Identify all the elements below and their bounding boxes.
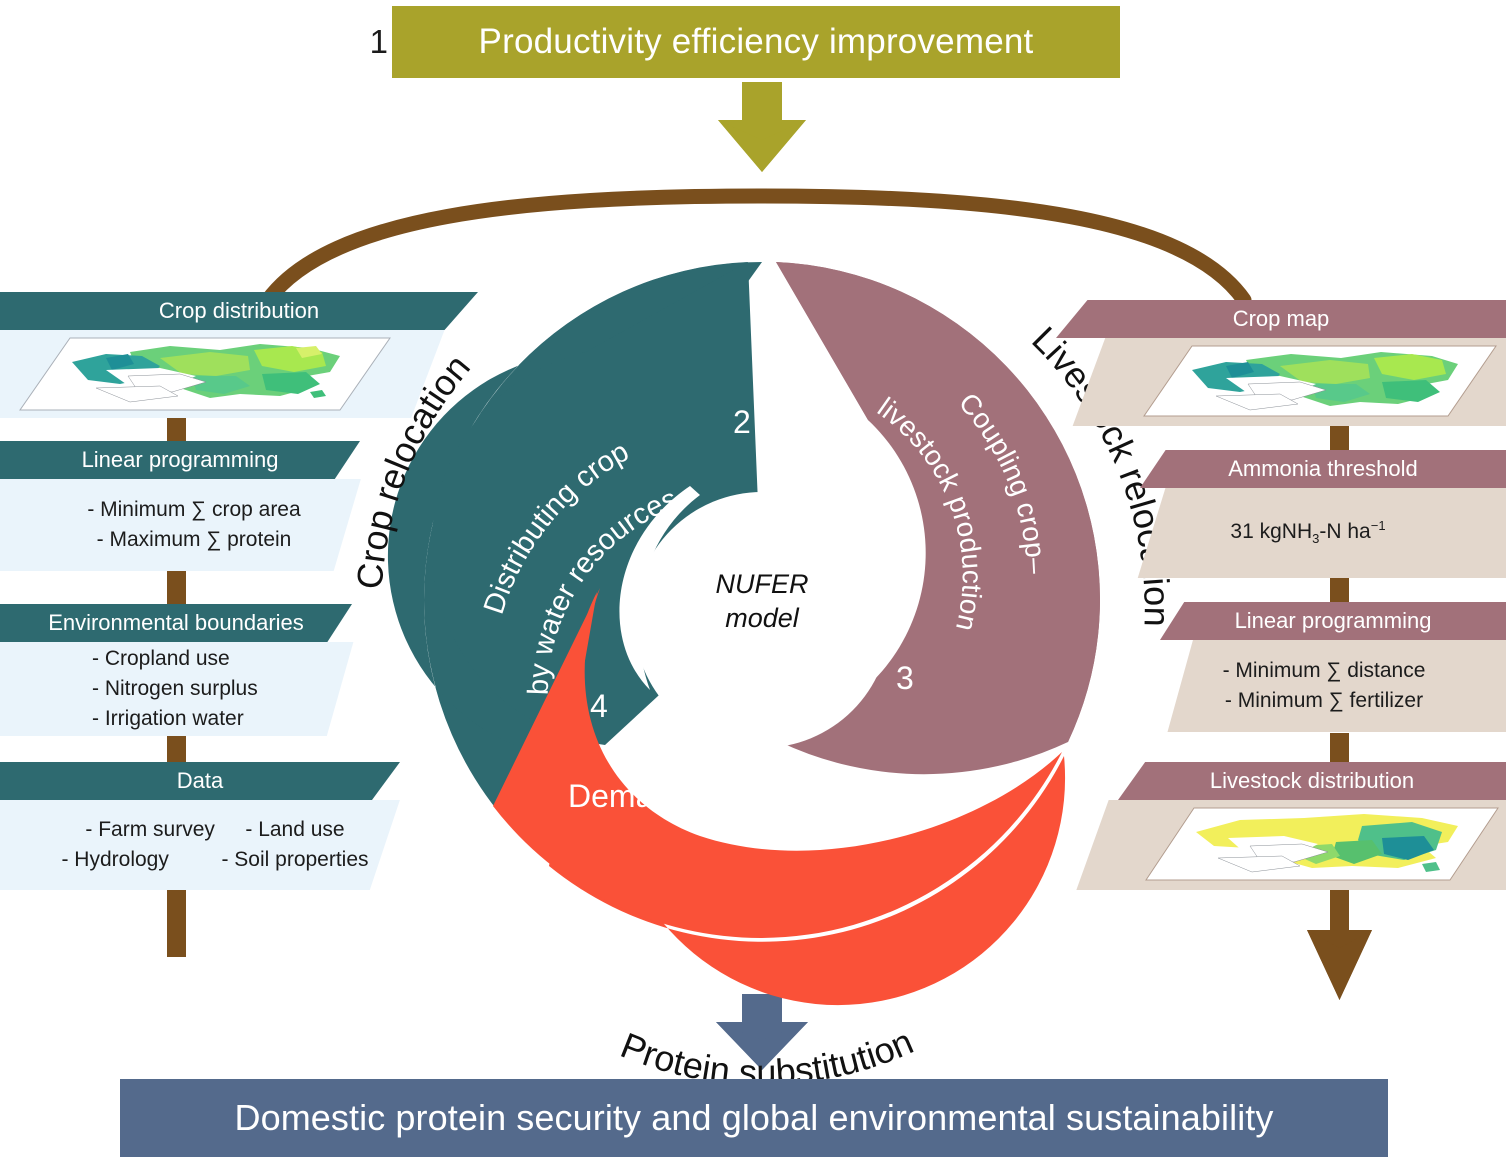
left-panel-3-bullet-1: - Cropland use xyxy=(92,644,230,674)
right-panel-1-header: Crop map xyxy=(1056,300,1506,338)
left-panel-4-title: Data xyxy=(177,768,223,794)
right-panel-3-header: Linear programming xyxy=(1160,602,1506,640)
left-panel-2-body: - Minimum ∑ crop area - Maximum ∑ protei… xyxy=(0,479,388,571)
center-model-name: NUFER model xyxy=(662,567,862,635)
left-panel-4-header: Data xyxy=(0,762,400,800)
left-panel-4-body: - Farm survey - Land use - Hydrology - S… xyxy=(0,800,430,890)
left-panel-2-bullet-2: - Maximum ∑ protein xyxy=(97,525,292,555)
china-crop-distribution-map xyxy=(10,332,400,416)
left-panel-1-title: Crop distribution xyxy=(159,298,319,324)
left-panel-3-bullet-3: - Irrigation water xyxy=(92,704,244,734)
left-panel-4-c2-r2: - Soil properties xyxy=(221,845,368,875)
left-panel-3-body: - Cropland use - Nitrogen surplus - Irri… xyxy=(0,642,380,736)
right-panel-4-body xyxy=(1044,800,1506,890)
ammonia-value-prefix: 31 kgNH xyxy=(1230,520,1312,543)
left-panel-3-bullet-2: - Nitrogen surplus xyxy=(92,674,258,704)
left-panel-4-c1-r2: - Hydrology xyxy=(61,845,211,875)
left-panel-1-body xyxy=(0,330,478,418)
left-panel-4-row-1: - Farm survey - Land use xyxy=(85,815,344,845)
left-panel-4-c1-r1: - Farm survey xyxy=(85,815,235,845)
bottom-banner-label: Domestic protein security and global env… xyxy=(234,1097,1273,1139)
left-panel-4-row-2: - Hydrology - Soil properties xyxy=(61,845,368,875)
right-panel-2-header: Ammonia threshold xyxy=(1140,450,1506,488)
left-panel-3-title: Environmental boundaries xyxy=(48,610,304,636)
china-livestock-distribution-map xyxy=(1136,802,1506,886)
right-panel-1-body xyxy=(1040,338,1506,426)
china-crop-map xyxy=(1136,340,1506,422)
center-model-line2: model xyxy=(662,601,862,635)
ammonia-value-sup: −1 xyxy=(1371,518,1386,533)
right-panel-2-title: Ammonia threshold xyxy=(1228,456,1418,482)
right-panel-2-value: 31 kgNH3-N ha−1 xyxy=(1230,511,1385,554)
left-panel-2-header: Linear programming xyxy=(0,441,360,479)
left-panel-4-c2-r1: - Land use xyxy=(245,815,344,845)
segment-2-number: 2 xyxy=(733,404,751,441)
left-panel-3-header: Environmental boundaries xyxy=(0,604,352,642)
bottom-banner: Domestic protein security and global env… xyxy=(120,1079,1388,1157)
right-panel-3-title: Linear programming xyxy=(1235,608,1432,634)
right-panel-4-title: Livestock distribution xyxy=(1210,768,1414,794)
ammonia-value-mid: -N ha xyxy=(1319,520,1370,543)
left-panel-2-title: Linear programming xyxy=(82,447,279,473)
right-panel-4-header: Livestock distribution xyxy=(1118,762,1506,800)
left-panel-1-header: Crop distribution xyxy=(0,292,478,330)
right-panel-3-bullet-1: - Minimum ∑ distance xyxy=(1223,656,1426,686)
left-panel-2-bullet-1: - Minimum ∑ crop area xyxy=(87,495,300,525)
right-panel-3-bullet-2: - Minimum ∑ fertilizer xyxy=(1225,686,1423,716)
segment-4-label: Demand-side options xyxy=(568,778,870,815)
right-panel-1-title: Crop map xyxy=(1233,306,1330,332)
diagram-canvas: 1 Productivity efficiency improvement xyxy=(0,0,1506,1164)
center-model-line1: NUFER xyxy=(662,567,862,601)
right-panel-2-body: 31 kgNH3-N ha−1 xyxy=(1110,488,1506,578)
segment-4-number: 4 xyxy=(590,688,608,725)
right-panel-3-body: - Minimum ∑ distance - Minimum ∑ fertili… xyxy=(1142,640,1506,732)
segment-3-number: 3 xyxy=(896,660,914,697)
